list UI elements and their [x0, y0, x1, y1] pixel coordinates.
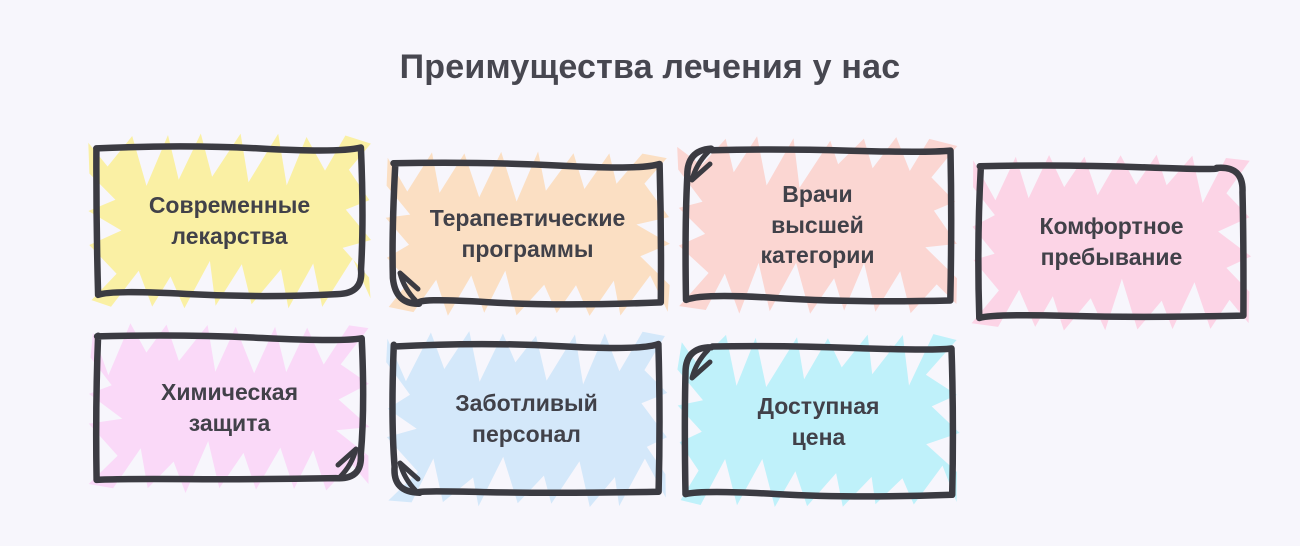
card-shape-caring-staff [394, 345, 659, 493]
benefit-card-comfortable-stay[interactable]: Комфортное пребывание [980, 167, 1243, 317]
card-marker-fill [386, 152, 670, 316]
benefit-card-top-category-doctors[interactable]: Врачи высшей категории [686, 150, 949, 300]
card-marker-fill [677, 334, 959, 507]
card-marker-fill [89, 323, 370, 493]
card-marker-fill [677, 136, 957, 313]
card-shape-affordable-price [686, 348, 951, 495]
card-shape-comfortable-stay [980, 167, 1243, 317]
card-shape-modern-medicines [97, 147, 362, 295]
card-shape-therapy-programs [394, 164, 661, 303]
benefit-card-affordable-price[interactable]: Доступная цена [686, 348, 951, 495]
card-marker-fill [972, 155, 1252, 331]
card-shape-top-category-doctors [686, 150, 949, 300]
card-shape-chemical-protection [97, 337, 362, 479]
card-marker-fill [88, 134, 371, 309]
card-marker-fill [386, 331, 667, 507]
benefit-card-therapy-programs[interactable]: Терапевтические программы [394, 164, 661, 303]
infographic-canvas: Преимущества лечения у нас Современные л… [0, 0, 1300, 546]
benefit-card-chemical-protection[interactable]: Химическая защита [97, 337, 362, 479]
page-title: Преимущества лечения у нас [0, 48, 1300, 87]
benefit-card-modern-medicines[interactable]: Современные лекарства [97, 147, 362, 295]
benefit-card-caring-staff[interactable]: Заботливый персонал [394, 345, 659, 493]
